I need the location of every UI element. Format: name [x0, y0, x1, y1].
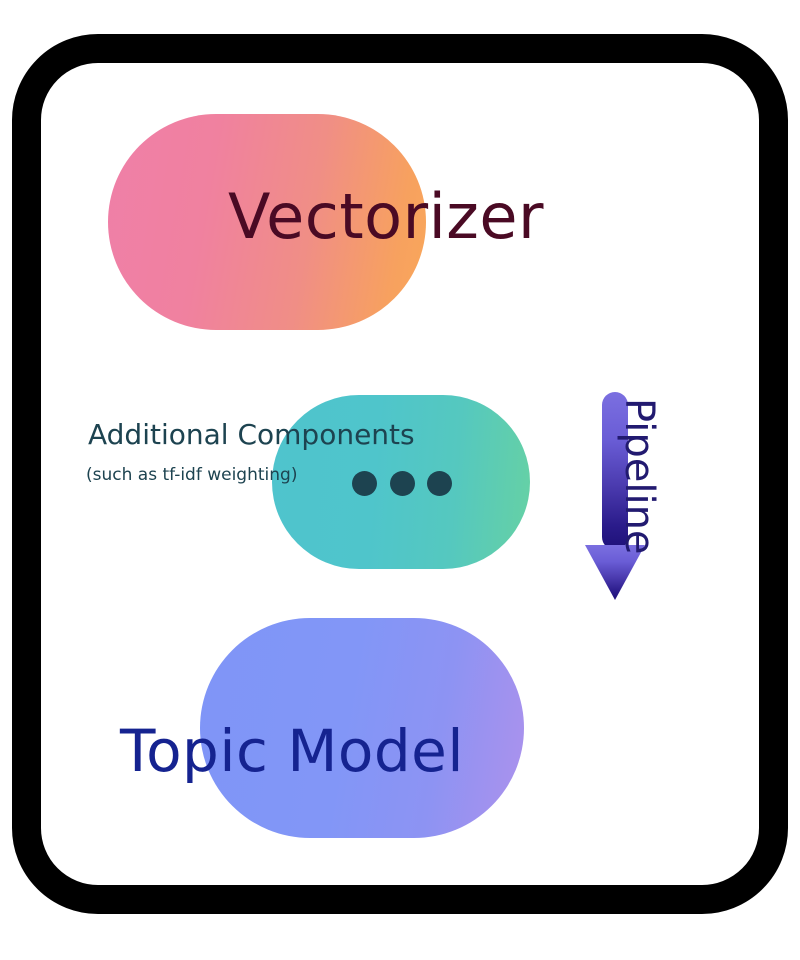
- pipeline-label: Pipeline: [619, 398, 659, 555]
- diagram-canvas: Vectorizer Additional Components (such a…: [0, 0, 800, 960]
- ellipsis-icon: [352, 469, 452, 497]
- vectorizer-label: Vectorizer: [228, 186, 544, 248]
- additional-components-label: Additional Components: [88, 421, 415, 449]
- ellipsis-dot: [427, 471, 452, 496]
- additional-components-sublabel: (such as tf-idf weighting): [86, 467, 297, 484]
- topic-model-label: Topic Model: [120, 722, 464, 780]
- ellipsis-dot: [352, 471, 377, 496]
- ellipsis-dot: [390, 471, 415, 496]
